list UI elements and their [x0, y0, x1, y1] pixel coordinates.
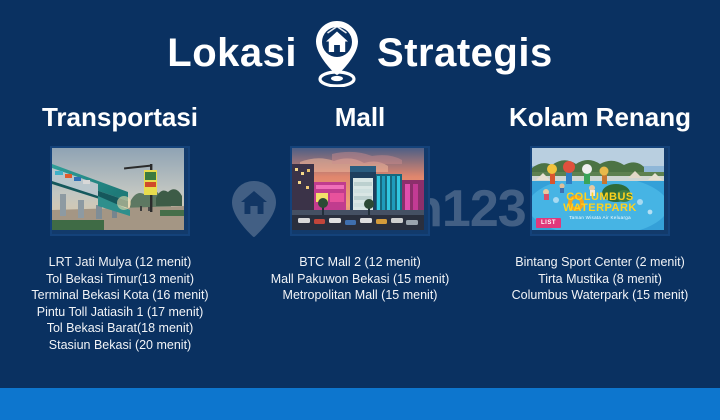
list-item: LRT Jati Mulya (12 menit) — [31, 254, 208, 271]
title-word-right: Strategis — [377, 33, 553, 73]
mall-night-exterior-image — [292, 148, 424, 230]
list-item: Terminal Bekasi Kota (16 menit) — [31, 287, 208, 304]
list-item: Bintang Sport Center (2 menit) — [512, 254, 689, 271]
list-transportasi: LRT Jati Mulya (12 menit) Tol Bekasi Tim… — [31, 254, 208, 353]
photo-transportasi — [50, 146, 190, 236]
promo-slide: rumah123 Lokasi Strategis Transportasi — [0, 0, 720, 420]
list-item: Tol Bekasi Timur(13 menit) — [31, 271, 208, 288]
column-heading-mall: Mall — [335, 104, 386, 130]
footer-accent-bar — [0, 388, 720, 420]
slide-title: Lokasi Strategis — [0, 22, 720, 84]
lrt-elevated-station-image — [52, 148, 184, 230]
list-kolam-renang: Bintang Sport Center (2 menit) Tirta Mus… — [512, 254, 689, 304]
photo-mall — [290, 146, 430, 236]
column-transportasi: Transportasi — [0, 104, 240, 374]
list-badge: LIST — [536, 218, 561, 228]
waterpark-caption: COLUMBUS WATERPARK Taman Wisata Air Kelu… — [532, 192, 668, 220]
column-heading-transportasi: Transportasi — [42, 104, 198, 130]
list-mall: BTC Mall 2 (12 menit) Mall Pakuwon Bekas… — [271, 254, 450, 304]
column-heading-kolam-renang: Kolam Renang — [509, 104, 691, 130]
category-columns: Transportasi — [0, 104, 720, 374]
list-item: Metropolitan Mall (15 menit) — [271, 287, 450, 304]
list-item: Tirta Mustika (8 menit) — [512, 271, 689, 288]
column-kolam-renang: Kolam Renang — [480, 104, 720, 374]
list-item: BTC Mall 2 (12 menit) — [271, 254, 450, 271]
photo-kolam-renang: COLUMBUS WATERPARK Taman Wisata Air Kelu… — [530, 146, 670, 236]
title-word-left: Lokasi — [167, 33, 297, 73]
list-item: Stasiun Bekasi (20 menit) — [31, 337, 208, 354]
waterpark-caption-main: COLUMBUS WATERPARK — [532, 192, 668, 214]
list-item: Mall Pakuwon Bekasi (15 menit) — [271, 271, 450, 288]
list-item: Tol Bekasi Barat(18 menit) — [31, 320, 208, 337]
list-item: Pintu Toll Jatiasih 1 (17 menit) — [31, 304, 208, 321]
list-item: Columbus Waterpark (15 menit) — [512, 287, 689, 304]
column-mall: Mall — [240, 104, 480, 374]
house-map-pin-icon — [311, 21, 363, 87]
